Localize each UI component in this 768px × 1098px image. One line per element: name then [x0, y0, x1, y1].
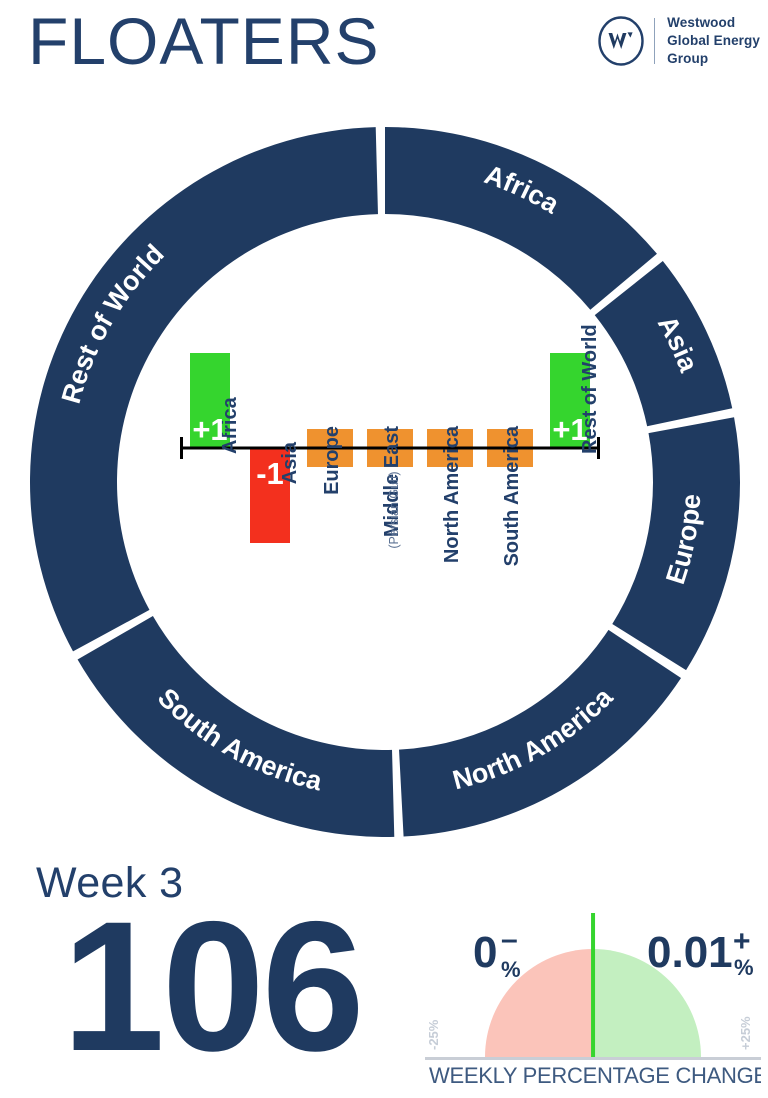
logo-line-1: Westwood: [667, 14, 760, 32]
logo-divider: [654, 18, 655, 64]
gauge-positive-sign: +: [733, 925, 751, 958]
gauge-negative-sign: –: [501, 923, 518, 956]
bar-category-sublabel: (Persian Gulf): [387, 471, 401, 548]
weekly-percentage-gauge: 0 – % 0.01 + % -25% +25% WEEKLY PERCENTA…: [425, 895, 761, 1090]
total-floater-count: 106: [62, 895, 362, 1080]
bar-category-label: South America: [501, 425, 523, 566]
gauge-negative-unit: %: [501, 957, 521, 982]
gauge-scale-max-label: +25%: [738, 1016, 753, 1050]
westwood-monogram-icon: [596, 16, 646, 66]
logo-line-3: Group: [667, 50, 760, 68]
gauge-svg: 0 – % 0.01 + % -25% +25% WEEKLY PERCENTA…: [425, 895, 761, 1090]
gauge-scale-min-label: -25%: [426, 1019, 441, 1050]
bar-value-label: +1: [192, 412, 227, 447]
bar-value-label: +1: [552, 412, 587, 447]
gauge-positive-value: 0.01: [647, 928, 733, 977]
gauge-positive-unit: %: [734, 955, 754, 980]
bar-chart-svg: AfricaAsiaEuropeMiddle East(Persian Gulf…: [160, 280, 620, 650]
bar-value-label: -1: [256, 456, 284, 491]
region-change-bar-chart: AfricaAsiaEuropeMiddle East(Persian Gulf…: [160, 280, 620, 650]
bar-category-label: North America: [441, 425, 463, 563]
gauge-negative-value: 0: [473, 928, 497, 977]
page-title: FLOATERS: [28, 8, 380, 74]
gauge-caption: WEEKLY PERCENTAGE CHANGE: [429, 1063, 761, 1088]
westwood-logo: Westwood Global Energy Group: [596, 14, 760, 67]
logo-wordmark: Westwood Global Energy Group: [667, 14, 760, 67]
infographic-page: FLOATERS Westwood Global Energy Group: [0, 0, 768, 1098]
logo-line-2: Global Energy: [667, 32, 760, 50]
bar-category-label: Europe: [321, 426, 343, 495]
